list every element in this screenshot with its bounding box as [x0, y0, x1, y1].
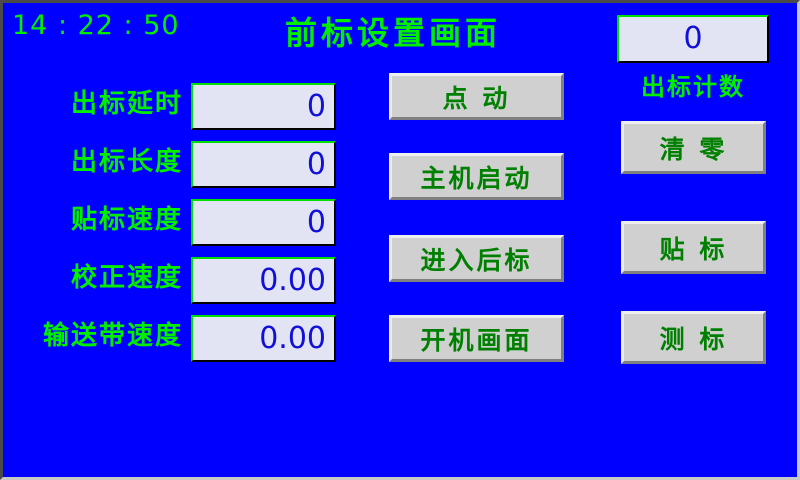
page-title: 前标设置画面 — [228, 15, 558, 51]
param-value-2: 0 — [307, 207, 326, 239]
param-field-3[interactable]: 0.00 — [191, 257, 336, 304]
startup-screen-button[interactable]: 开机画面 — [389, 315, 564, 362]
param-label-2: 贴标速度 — [0, 205, 183, 235]
param-label-3: 校正速度 — [0, 263, 183, 293]
param-value-4: 0.00 — [259, 323, 326, 355]
param-field-2[interactable]: 0 — [191, 199, 336, 246]
param-value-3: 0.00 — [259, 265, 326, 297]
hmi-screen: 14 : 22 : 50 前标设置画面 0 出标计数 出标延时 0 出标长度 0… — [0, 0, 800, 480]
param-value-1: 0 — [307, 149, 326, 181]
param-label-4: 输送带速度 — [0, 321, 183, 351]
param-label-0: 出标延时 — [0, 89, 183, 119]
main-start-button[interactable]: 主机启动 — [389, 153, 564, 200]
param-field-4[interactable]: 0.00 — [191, 315, 336, 362]
label-count-field[interactable]: 0 — [617, 15, 769, 63]
param-field-1[interactable]: 0 — [191, 141, 336, 188]
clock-display: 14 : 22 : 50 — [12, 11, 180, 41]
jog-button[interactable]: 点 动 — [389, 73, 564, 120]
detect-label-button[interactable]: 测 标 — [621, 311, 766, 364]
param-value-0: 0 — [307, 91, 326, 123]
param-field-0[interactable]: 0 — [191, 83, 336, 130]
label-count-caption: 出标计数 — [617, 73, 769, 101]
label-count-value: 0 — [619, 23, 767, 55]
apply-label-button[interactable]: 贴 标 — [621, 221, 766, 274]
clear-counter-button[interactable]: 清 零 — [621, 121, 766, 174]
param-label-1: 出标长度 — [0, 147, 183, 177]
enter-rear-label-button[interactable]: 进入后标 — [389, 235, 564, 282]
